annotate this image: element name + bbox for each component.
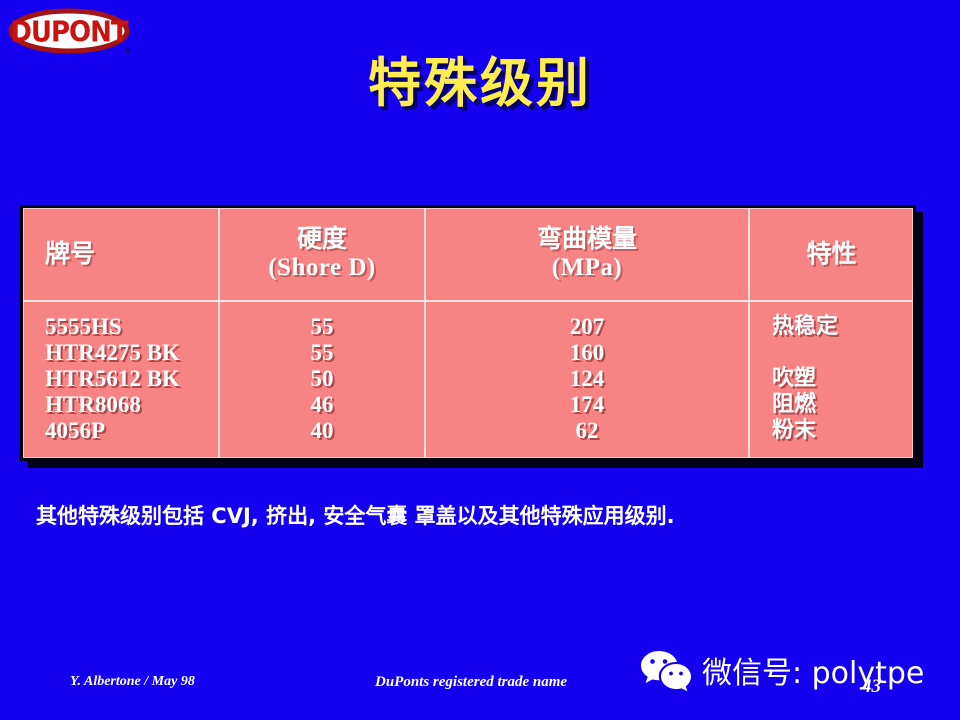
column-header-modulus-unit: (MPa)	[432, 254, 742, 283]
wechat-watermark-text: 微信号: polytpe	[702, 648, 924, 692]
column-header-grade: 牌号	[23, 208, 219, 301]
table-header-row: 牌号 硬度 (Shore D) 弯曲模量 (MPa) 特性	[23, 208, 913, 301]
cell-hardness-list: 55 55 50 46 40	[219, 301, 425, 458]
list-item: 热稳定	[756, 314, 907, 340]
footer-author: Y. Albertone / May 98	[70, 674, 195, 690]
grades-table: 牌号 硬度 (Shore D) 弯曲模量 (MPa) 特性	[23, 208, 913, 458]
list-item: 55	[226, 340, 418, 366]
column-header-modulus: 弯曲模量 (MPa)	[425, 208, 749, 301]
list-item: 40	[226, 418, 418, 444]
column-header-grade-label: 牌号	[45, 239, 95, 268]
caption-text: 其他特殊级别包括 CVJ, 挤出, 安全气囊 罩盖以及其他特殊应用级别.	[36, 500, 675, 530]
list-item: HTR4275 BK	[29, 340, 212, 366]
dupont-logo: DUPONT ®	[8, 8, 136, 58]
list-item: HTR8068	[29, 392, 212, 418]
list-item: 46	[226, 392, 418, 418]
cell-modulus-list: 207 160 124 174 62	[425, 301, 749, 458]
column-header-modulus-label: 弯曲模量	[537, 224, 637, 253]
grade-list: 5555HS HTR4275 BK HTR5612 BK HTR8068 405…	[29, 314, 212, 444]
column-header-hardness-unit: (Shore D)	[226, 254, 418, 283]
wechat-icon	[640, 649, 692, 691]
wechat-watermark: 微信号: polytpe	[640, 648, 924, 692]
list-item: 62	[432, 418, 742, 444]
column-header-properties: 特性	[749, 208, 913, 301]
hardness-list: 55 55 50 46 40	[226, 314, 418, 444]
list-item: 55	[226, 314, 418, 340]
footer-trademark-note: DuPonts registered trade name	[375, 674, 567, 691]
slide-canvas: DUPONT ® 特殊级别 牌号 硬度 (Shore D)	[0, 0, 960, 720]
table-data-row: 5555HS HTR4275 BK HTR5612 BK HTR8068 405…	[23, 301, 913, 458]
list-item: 粉末	[756, 418, 907, 444]
svg-text:®: ®	[124, 47, 131, 55]
cell-properties-list: 热稳定 吹塑 阻燃 粉末	[749, 301, 913, 458]
list-item: 阻燃	[756, 392, 907, 418]
list-item: 5555HS	[29, 314, 212, 340]
list-item: 174	[432, 392, 742, 418]
list-item: 4056P	[29, 418, 212, 444]
svg-text:DUPONT: DUPONT	[10, 17, 129, 49]
list-item: HTR5612 BK	[29, 366, 212, 392]
list-item: 50	[226, 366, 418, 392]
column-header-hardness: 硬度 (Shore D)	[219, 208, 425, 301]
page-title: 特殊级别	[0, 55, 960, 113]
modulus-list: 207 160 124 174 62	[432, 314, 742, 444]
grades-table-container: 牌号 硬度 (Shore D) 弯曲模量 (MPa) 特性	[20, 205, 916, 461]
list-item	[756, 340, 907, 366]
column-header-hardness-label: 硬度	[297, 224, 347, 253]
list-item: 207	[432, 314, 742, 340]
list-item: 吹塑	[756, 366, 907, 392]
list-item: 160	[432, 340, 742, 366]
column-header-properties-label: 特性	[806, 239, 856, 268]
cell-grade-list: 5555HS HTR4275 BK HTR5612 BK HTR8068 405…	[23, 301, 219, 458]
list-item: 124	[432, 366, 742, 392]
properties-list: 热稳定 吹塑 阻燃 粉末	[756, 314, 907, 444]
